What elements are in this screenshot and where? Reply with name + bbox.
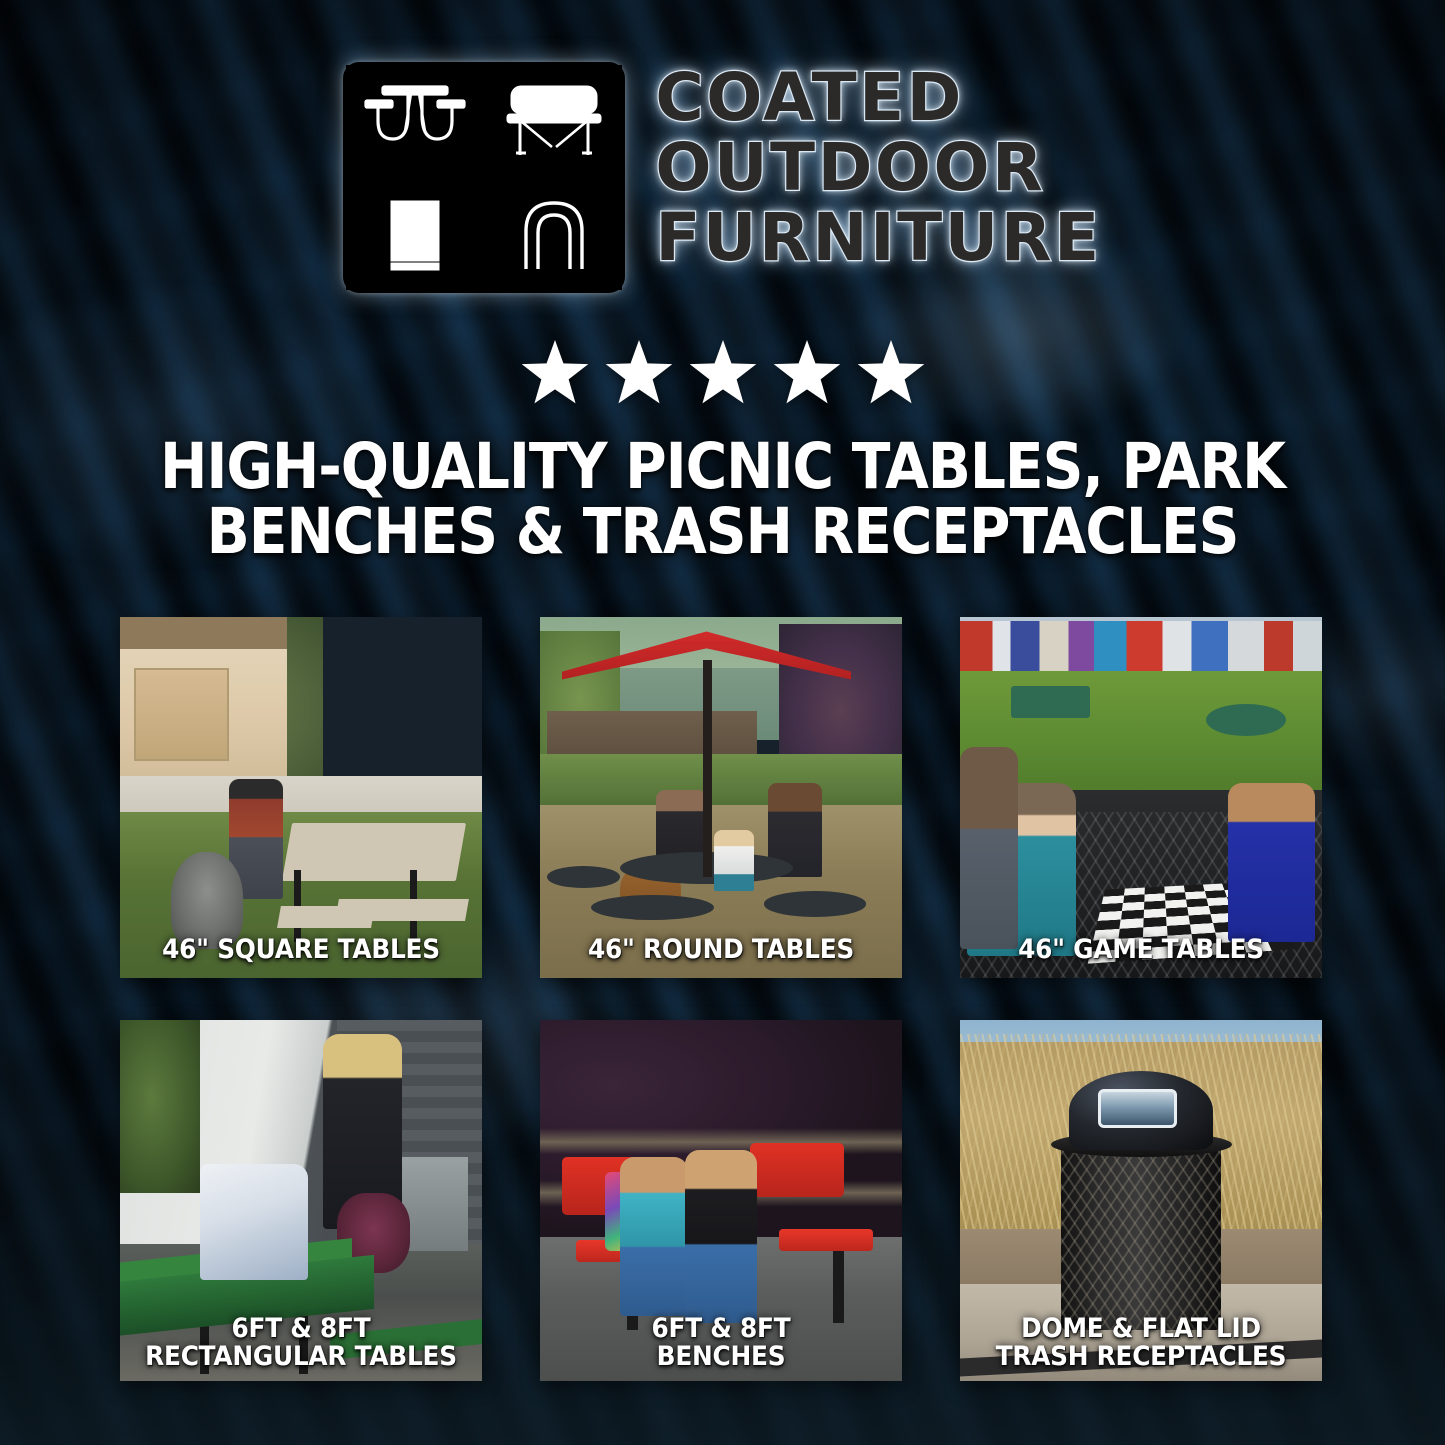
headline-line-1: HIGH-QUALITY PICNIC TABLES, PARK — [72, 434, 1373, 499]
tile-caption-line-2: BENCHES — [554, 1343, 887, 1371]
star-icon — [520, 340, 590, 410]
product-tile-square-tables[interactable]: 46" SQUARE TABLES — [120, 617, 482, 978]
tile-caption-line-1: 46" SQUARE TABLES — [134, 936, 467, 964]
tile-caption-line-2: RECTANGULAR TABLES — [134, 1343, 467, 1371]
game-tables-photo — [960, 617, 1322, 978]
product-tile-game-tables[interactable]: 46" GAME TABLES — [960, 617, 1322, 978]
tile-caption-line-2: TRASH RECEPTACLES — [974, 1343, 1307, 1371]
promo-poster: COATED OUTDOOR FURNITURE HIGH-QUALITY PI… — [0, 0, 1445, 1445]
brand-logo: COATED OUTDOOR FURNITURE — [0, 62, 1445, 293]
logo-icon-grid — [343, 62, 625, 293]
star-icon — [772, 340, 842, 410]
brand-name-line-2: OUTDOOR — [655, 134, 1101, 202]
park-bench-icon — [486, 65, 623, 176]
tile-caption: 6FT & 8FT BENCHES — [554, 1315, 887, 1371]
star-icon — [688, 340, 758, 410]
product-category-grid: 46" SQUARE TABLES — [120, 617, 1323, 1381]
product-tile-benches[interactable]: 6FT & 8FT BENCHES — [540, 1020, 902, 1381]
brand-name-line-1: COATED — [655, 64, 1101, 132]
tile-caption: 6FT & 8FT RECTANGULAR TABLES — [134, 1315, 467, 1371]
tile-caption: 46" ROUND TABLES — [554, 936, 887, 964]
brand-name-line-3: FURNITURE — [655, 204, 1101, 272]
tile-caption-line-1: DOME & FLAT LID — [974, 1315, 1307, 1343]
tile-caption-line-1: 6FT & 8FT — [134, 1315, 467, 1343]
tile-caption-line-1: 46" GAME TABLES — [974, 936, 1307, 964]
product-tile-trash-receptacles[interactable]: DOME & FLAT LID TRASH RECEPTACLES — [960, 1020, 1322, 1381]
tile-caption-line-1: 46" ROUND TABLES — [554, 936, 887, 964]
star-rating — [0, 340, 1445, 410]
product-tile-round-tables[interactable]: 46" ROUND TABLES — [540, 617, 902, 978]
round-tables-photo — [540, 617, 902, 978]
brand-name: COATED OUTDOOR FURNITURE — [655, 62, 1101, 272]
tile-caption: 46" GAME TABLES — [974, 936, 1307, 964]
headline-line-2: BENCHES & TRASH RECEPTACLES — [72, 499, 1373, 564]
trash-receptacle-icon — [346, 179, 483, 290]
square-tables-photo — [120, 617, 482, 978]
star-icon — [856, 340, 926, 410]
tile-caption-line-1: 6FT & 8FT — [554, 1315, 887, 1343]
page-title: HIGH-QUALITY PICNIC TABLES, PARK BENCHES… — [72, 434, 1373, 564]
bike-rack-arch-icon — [486, 179, 623, 290]
tile-caption: 46" SQUARE TABLES — [134, 936, 467, 964]
product-tile-rectangular-tables[interactable]: 6FT & 8FT RECTANGULAR TABLES — [120, 1020, 482, 1381]
tile-caption: DOME & FLAT LID TRASH RECEPTACLES — [974, 1315, 1307, 1371]
star-icon — [604, 340, 674, 410]
picnic-table-icon — [346, 65, 483, 176]
